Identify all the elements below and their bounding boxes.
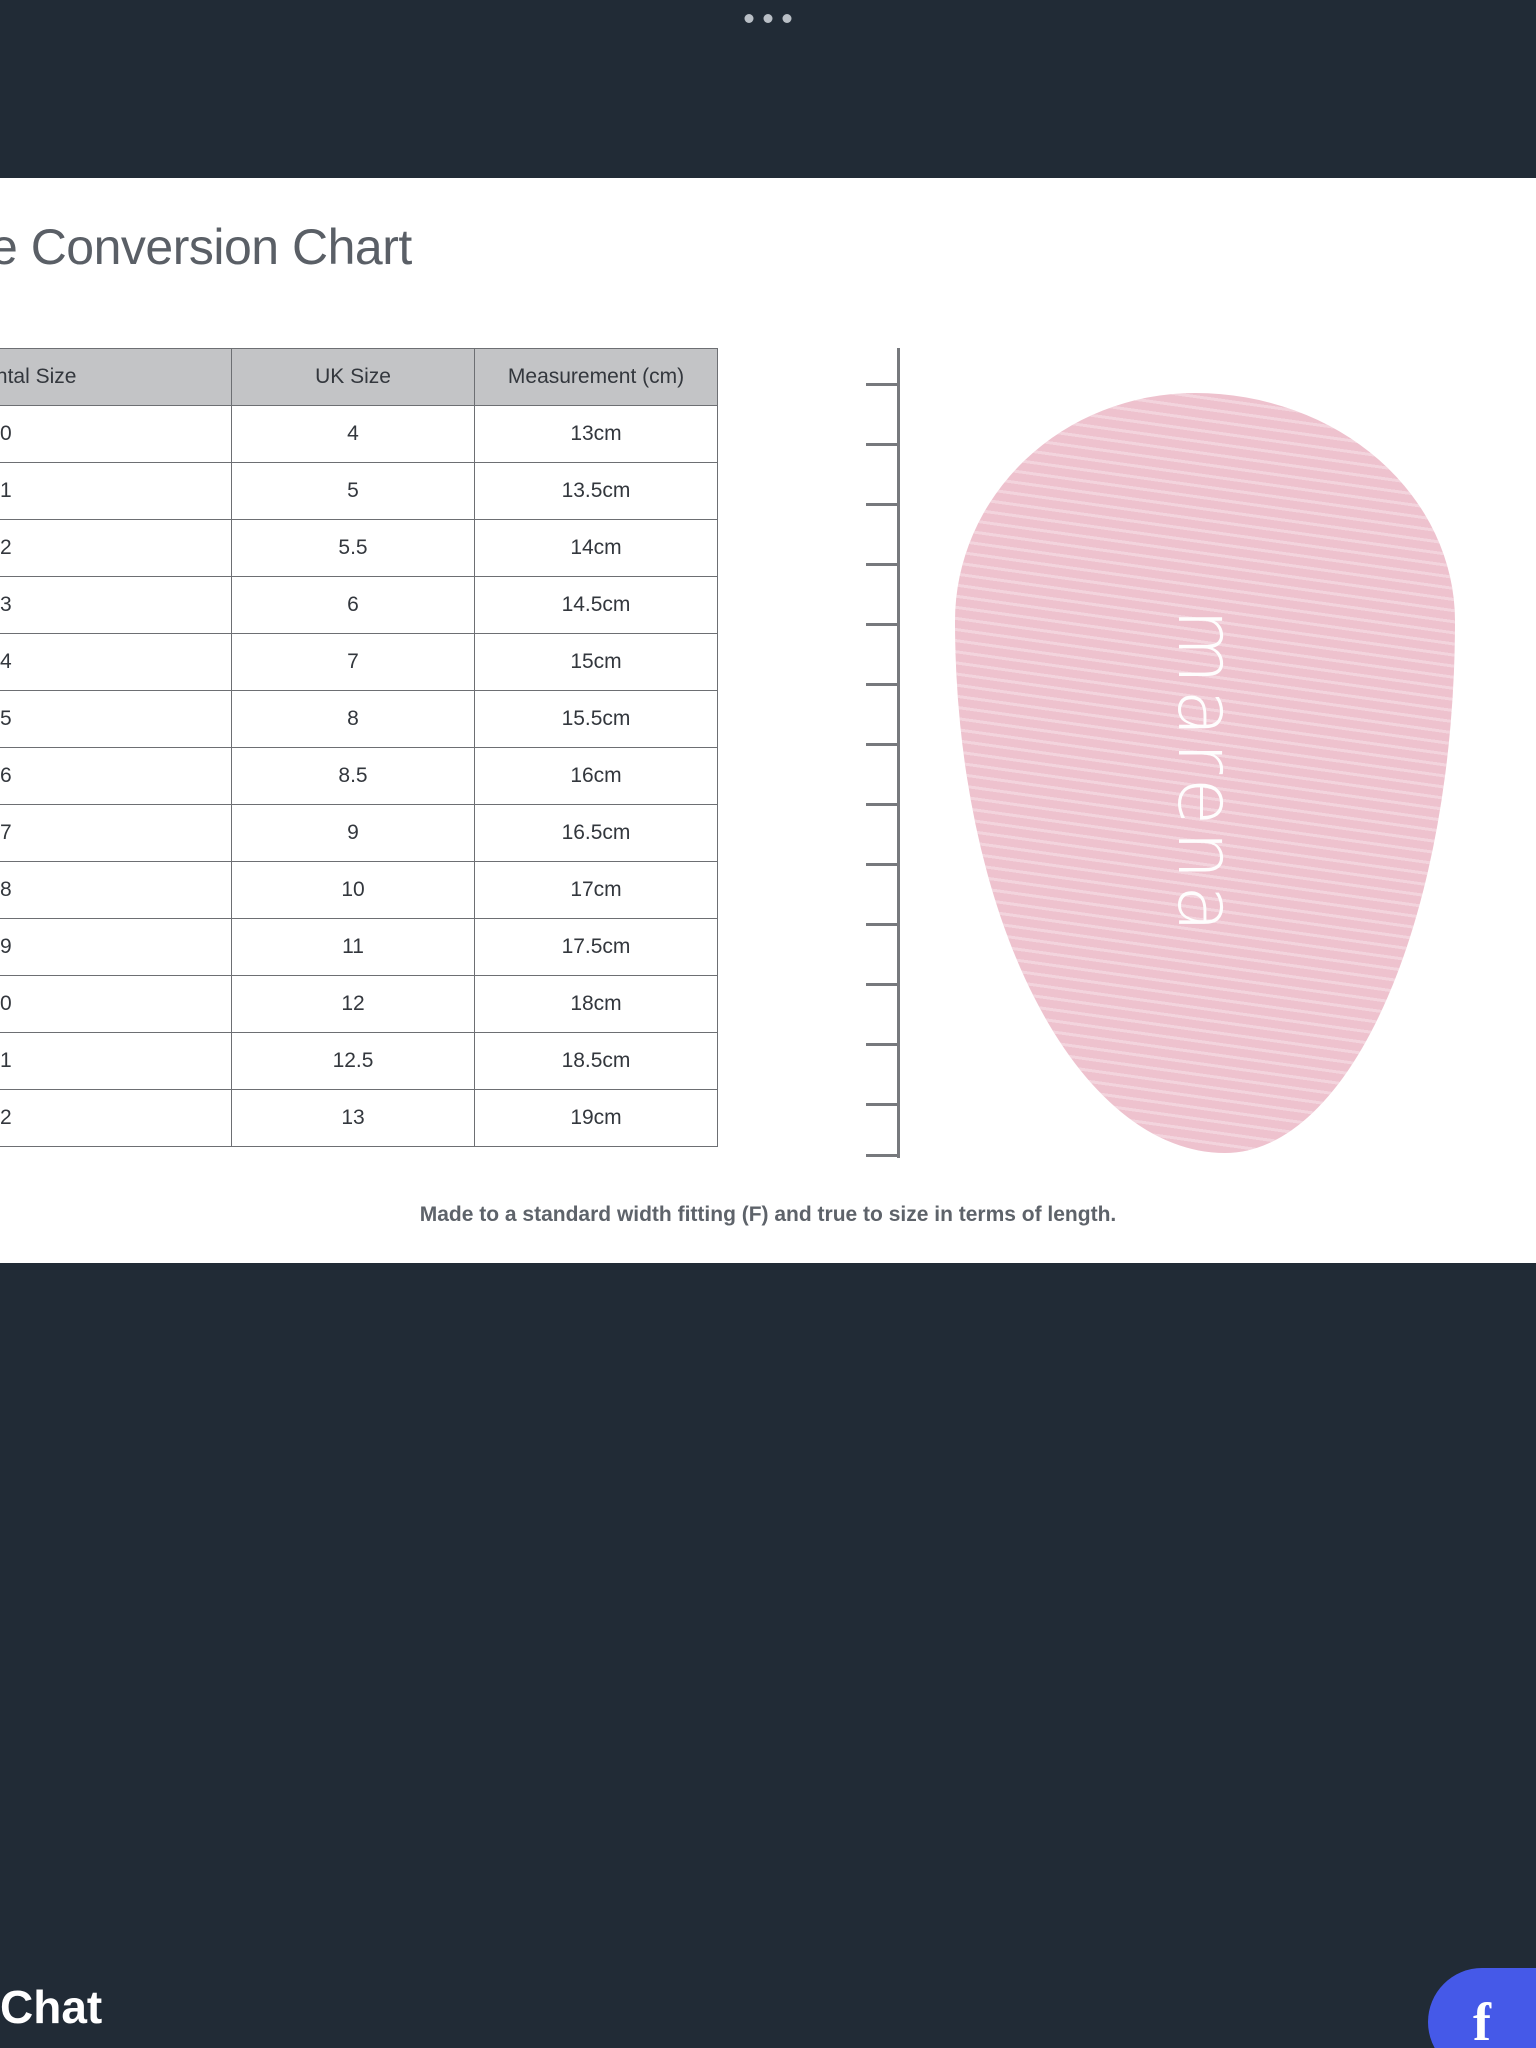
cell-measurement: 13.5cm [475,463,718,520]
table-row: 31 12.5 18.5cm [0,1033,718,1090]
table-row: 23 6 14.5cm [0,577,718,634]
cell-continental-size: 24 [0,634,232,691]
ruler-tick [866,623,900,626]
column-header-continental-size: Continental Size [0,349,232,406]
cell-measurement: 18cm [475,976,718,1033]
ruler-tick [866,1103,900,1106]
table-body: 20 4 13cm 21 5 13.5cm 22 5.5 14cm [0,406,718,1147]
size-chart-card: e Conversion Chart Continental Size UK S… [0,178,1536,1263]
ruler-tick [866,563,900,566]
page-title: e Conversion Chart [0,218,412,276]
chat-label[interactable]: Chat [0,1980,102,2034]
cell-continental-size: 31 [0,1033,232,1090]
cell-continental-size: 27 [0,805,232,862]
cell-uk-size: 9 [232,805,475,862]
size-conversion-table: Continental Size UK Size Measurement (cm… [0,348,718,1147]
ruler-tick [866,383,900,386]
measurement-ruler [860,348,900,1158]
size-conversion-table-wrapper: Continental Size UK Size Measurement (cm… [0,348,718,1147]
table-row: 20 4 13cm [0,406,718,463]
top-bar [0,0,1536,178]
cell-uk-size: 8 [232,691,475,748]
cell-uk-size: 5.5 [232,520,475,577]
ruler-tick [866,1043,900,1046]
bottom-bar [0,1263,1536,2048]
fitting-note: Made to a standard width fitting (F) and… [0,1203,1536,1227]
cell-continental-size: 22 [0,520,232,577]
table-row: 30 12 18cm [0,976,718,1033]
cell-uk-size: 4 [232,406,475,463]
cell-continental-size: 21 [0,463,232,520]
table-row: 29 11 17.5cm [0,919,718,976]
ruler-tick [866,1154,900,1157]
table-row: 25 8 15.5cm [0,691,718,748]
ruler-tick [866,863,900,866]
cell-uk-size: 12.5 [232,1033,475,1090]
shoe-sole-shape: marena [955,393,1455,1153]
cell-continental-size: 30 [0,976,232,1033]
cell-continental-size: 23 [0,577,232,634]
ruler-tick [866,743,900,746]
column-header-measurement: Measurement (cm) [475,349,718,406]
cell-measurement: 19cm [475,1090,718,1147]
facebook-icon: f [1473,1991,1491,2048]
ruler-tick [866,683,900,686]
cell-uk-size: 5 [232,463,475,520]
shoe-sole-illustration: marena [860,348,1536,1158]
dot-3 [783,14,792,23]
table-row: 32 13 19cm [0,1090,718,1147]
ruler-tick [866,923,900,926]
ruler-tick [866,503,900,506]
cell-continental-size: 28 [0,862,232,919]
cell-continental-size: 20 [0,406,232,463]
cell-measurement: 16cm [475,748,718,805]
cell-uk-size: 12 [232,976,475,1033]
table-row: 21 5 13.5cm [0,463,718,520]
table-row: 28 10 17cm [0,862,718,919]
cell-measurement: 15.5cm [475,691,718,748]
three-dots-icon[interactable] [745,14,792,23]
table-row: 24 7 15cm [0,634,718,691]
cell-continental-size: 26 [0,748,232,805]
column-header-uk-size: UK Size [232,349,475,406]
cell-measurement: 16.5cm [475,805,718,862]
cell-uk-size: 11 [232,919,475,976]
ruler-tick [866,443,900,446]
cell-uk-size: 13 [232,1090,475,1147]
cell-measurement: 17cm [475,862,718,919]
cell-continental-size: 25 [0,691,232,748]
cell-measurement: 14.5cm [475,577,718,634]
ruler-spine [897,348,900,1158]
dot-2 [764,14,773,23]
table-row: 26 8.5 16cm [0,748,718,805]
cell-uk-size: 7 [232,634,475,691]
screen-root: e Conversion Chart Continental Size UK S… [0,0,1536,2048]
ruler-tick [866,983,900,986]
table-row: 27 9 16.5cm [0,805,718,862]
ruler-tick [866,803,900,806]
cell-measurement: 13cm [475,406,718,463]
cell-measurement: 17.5cm [475,919,718,976]
cell-continental-size: 29 [0,919,232,976]
cell-uk-size: 8.5 [232,748,475,805]
cell-measurement: 18.5cm [475,1033,718,1090]
dot-1 [745,14,754,23]
cell-uk-size: 6 [232,577,475,634]
table-row: 22 5.5 14cm [0,520,718,577]
table-header-row: Continental Size UK Size Measurement (cm… [0,349,718,406]
cell-measurement: 14cm [475,520,718,577]
cell-measurement: 15cm [475,634,718,691]
brand-logo-text: marena [1160,608,1250,937]
cell-continental-size: 32 [0,1090,232,1147]
cell-uk-size: 10 [232,862,475,919]
